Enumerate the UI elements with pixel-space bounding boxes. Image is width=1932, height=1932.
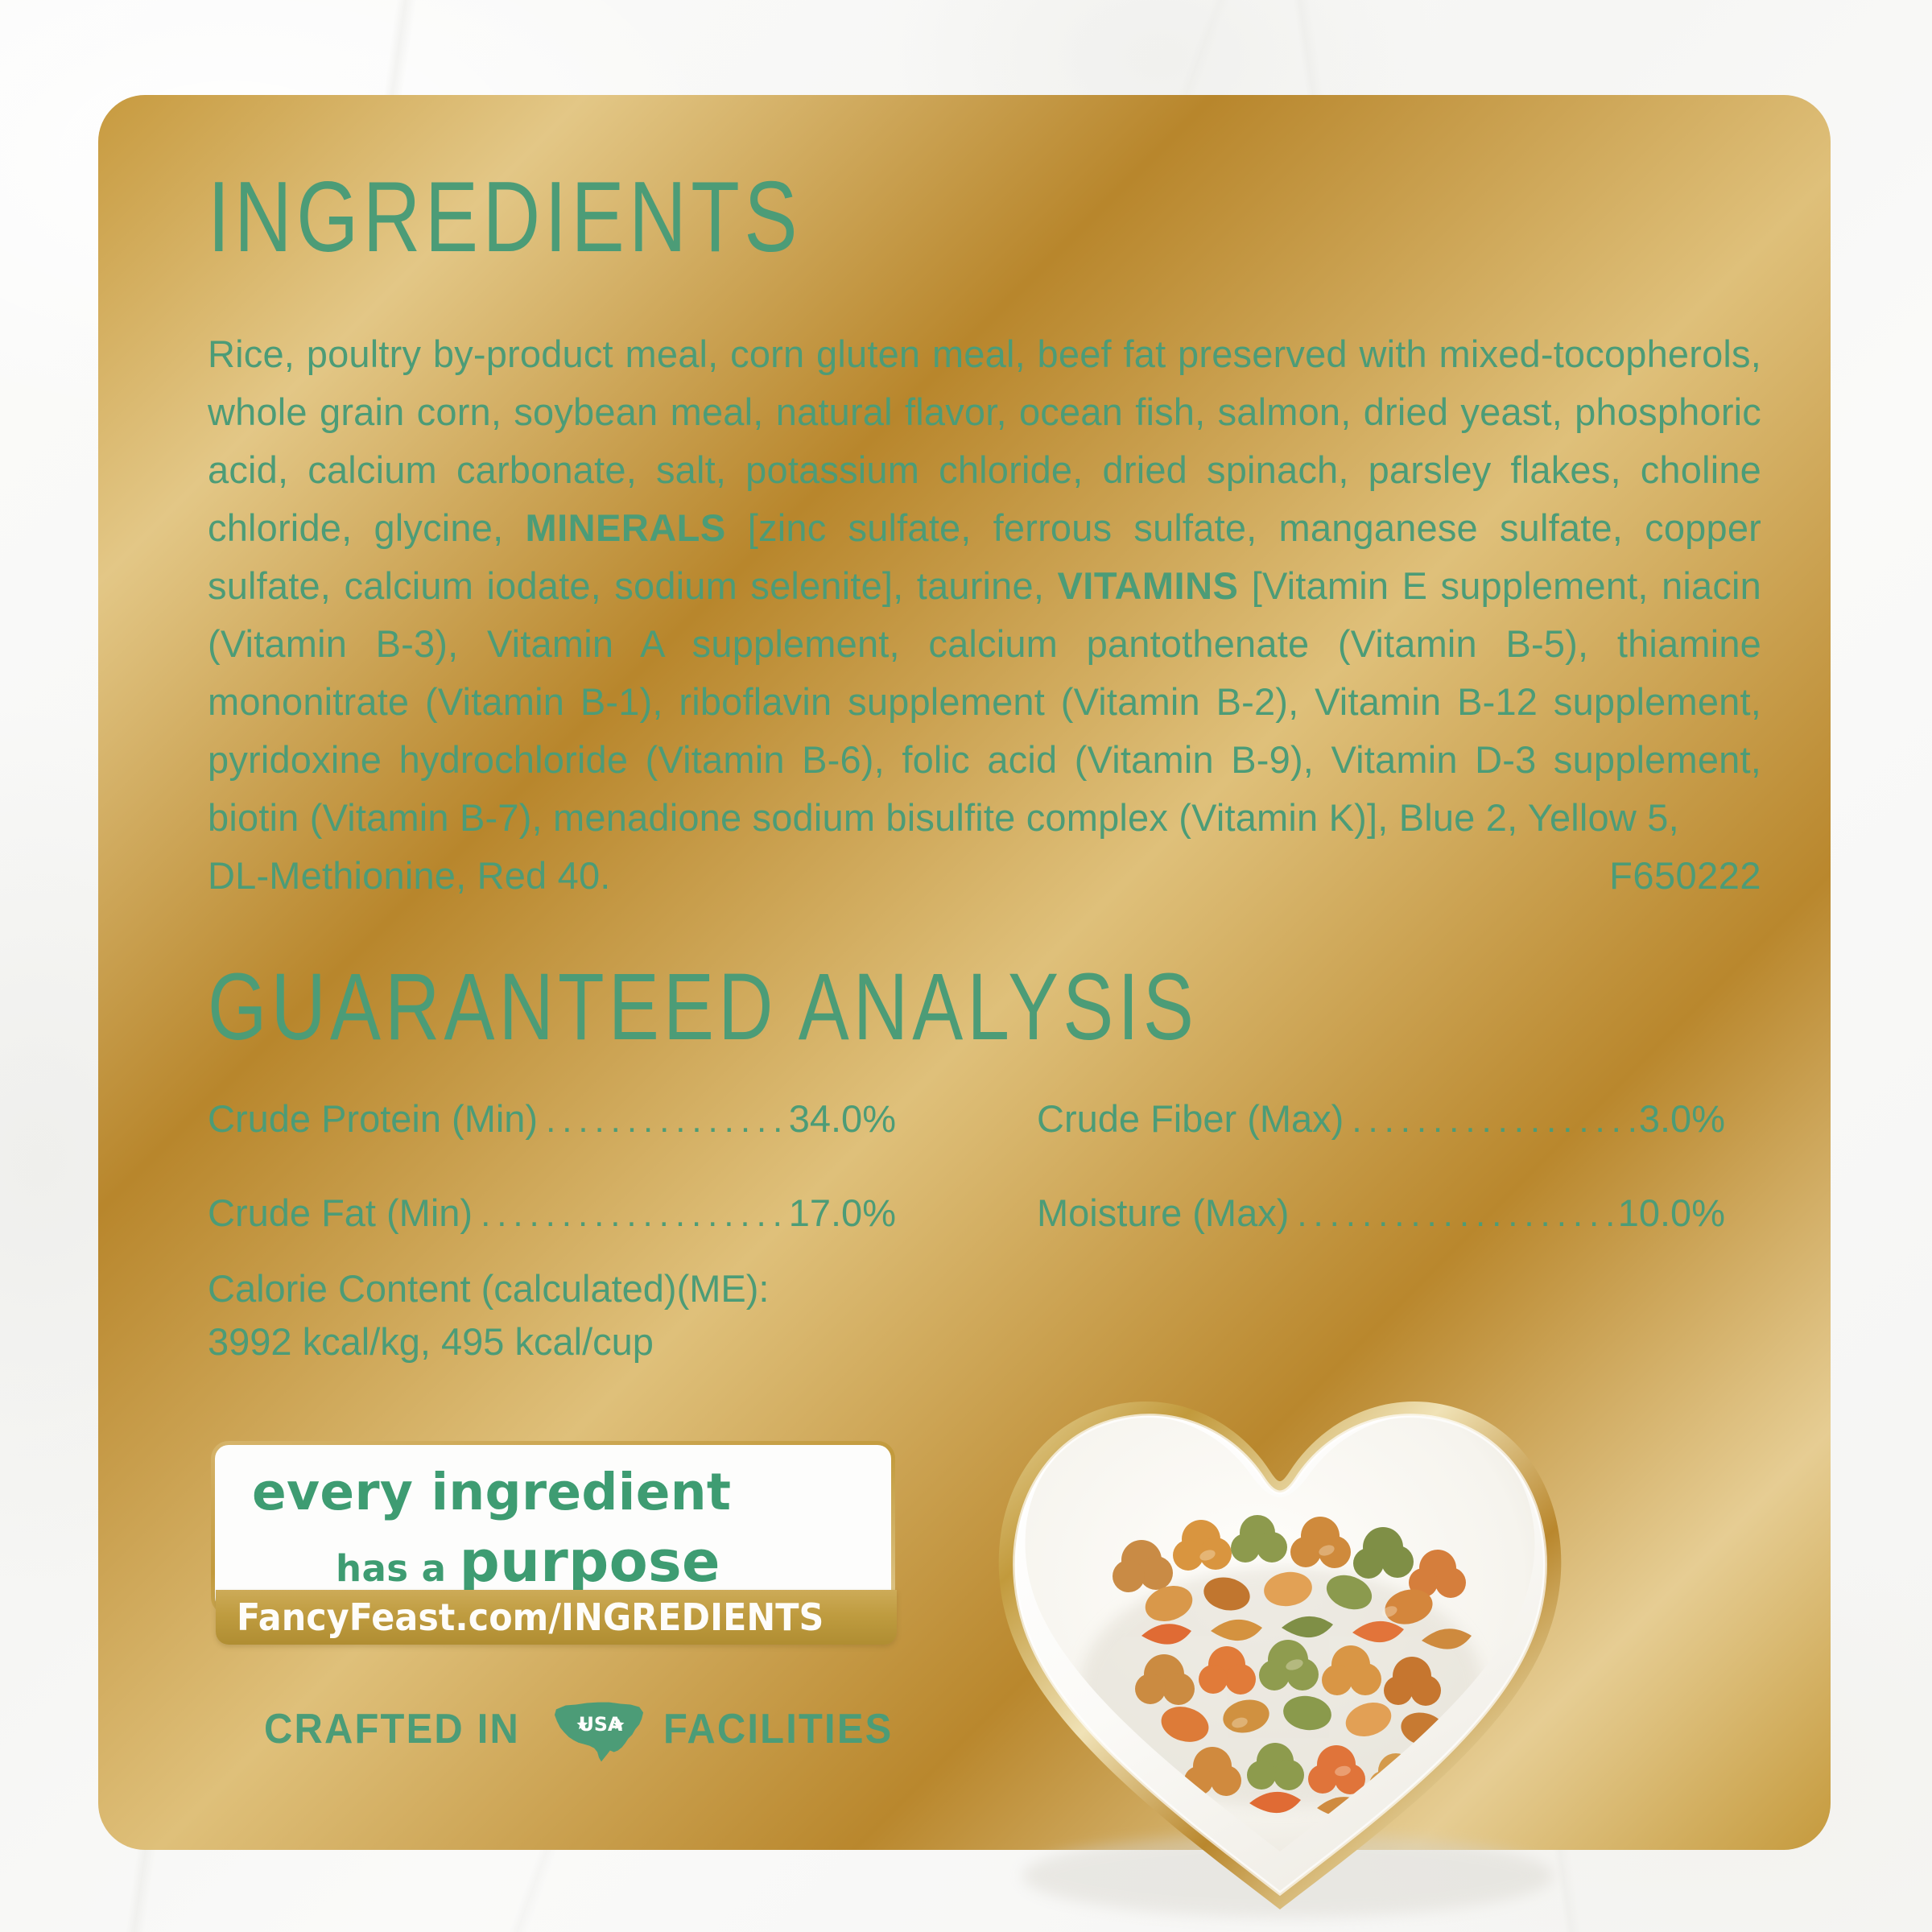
ingredients-last-line: DL-Methionine, Red 40. F650222 [208, 847, 1761, 905]
ingredients-minerals-label: MINERALS [525, 506, 725, 549]
ingredients-url-text[interactable]: FancyFeast.com/INGREDIENTS [237, 1596, 824, 1639]
analysis-label: Crude Fiber (Max) [1037, 1096, 1344, 1141]
leader-dots: ........................................… [1352, 1103, 1634, 1138]
analysis-label: Crude Protein (Min) [208, 1096, 538, 1141]
every-ingredient-purpose-badge: every ingredient has a purpose [211, 1441, 895, 1615]
analysis-label: Moisture (Max) [1037, 1191, 1289, 1235]
analysis-value: 34.0% [789, 1096, 896, 1141]
leader-dots: ........................................… [481, 1197, 784, 1232]
guaranteed-analysis-heading: GUARANTEED ANALYSIS [208, 960, 1198, 1055]
usa-map-label: USA [579, 1713, 623, 1736]
badge-purpose-text: purpose [460, 1529, 720, 1595]
analysis-value: 3.0% [1639, 1096, 1725, 1141]
analysis-row-crude-fat: Crude Fat (Min) ........................… [208, 1191, 896, 1235]
guaranteed-analysis-table: Crude Protein (Min) ....................… [208, 1096, 1761, 1235]
ingredients-text-last: DL-Methionine, Red 40. [208, 847, 611, 905]
facilities-text: FACILITIES [663, 1705, 893, 1753]
ingredients-url-bar[interactable]: FancyFeast.com/INGREDIENTS [216, 1590, 897, 1645]
ingredients-paragraph: Rice, poultry by-product meal, corn glut… [208, 325, 1761, 905]
ingredients-heading: INGREDIENTS [208, 167, 802, 267]
analysis-row-crude-fiber: Crude Fiber (Max) ......................… [1037, 1096, 1725, 1141]
leader-dots: ........................................… [546, 1103, 784, 1138]
analysis-value: 17.0% [789, 1191, 896, 1235]
analysis-row-moisture: Moisture (Max) .........................… [1037, 1191, 1725, 1235]
usa-map-icon: USA [552, 1695, 647, 1764]
heart-dish-with-kibble-photo [885, 1240, 1674, 1932]
crafted-in-usa-facilities: CRAFTED IN USA FACILITIES [264, 1695, 908, 1764]
analysis-value: 10.0% [1618, 1191, 1725, 1235]
ingredients-vitamins-label: VITAMINS [1057, 564, 1238, 607]
badge-line-1: every ingredient [252, 1463, 731, 1521]
analysis-row-crude-protein: Crude Protein (Min) ....................… [208, 1096, 896, 1141]
product-code: F650222 [1609, 847, 1761, 905]
analysis-label: Crude Fat (Min) [208, 1191, 473, 1235]
leader-dots: ........................................… [1297, 1197, 1612, 1232]
badge-has-a-text: has a [336, 1547, 460, 1590]
badge-line-2: has a purpose [336, 1529, 720, 1595]
crafted-in-text: CRAFTED IN [264, 1705, 520, 1753]
